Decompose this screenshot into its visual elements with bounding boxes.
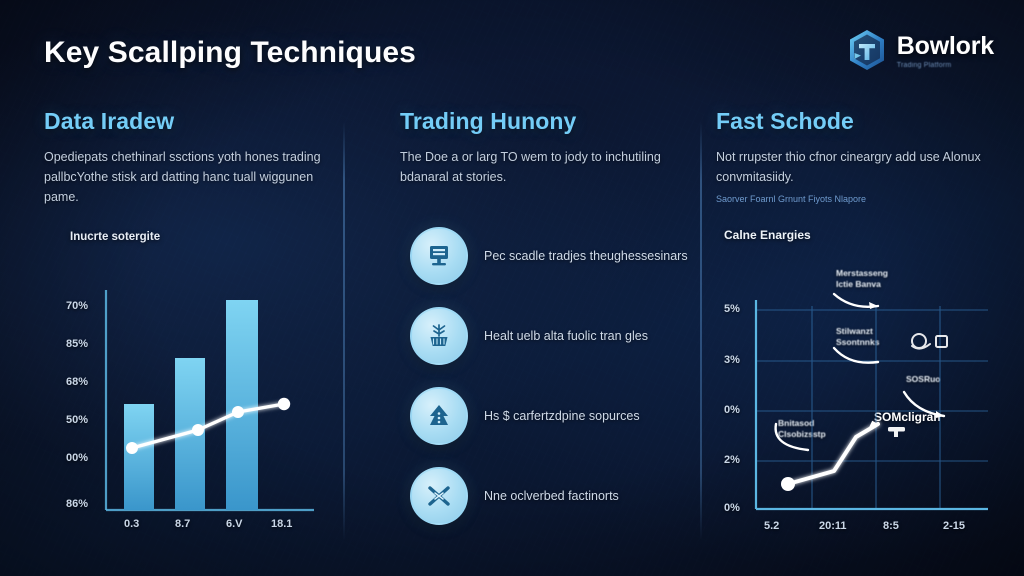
list-item[interactable]: Healt uelb alta fuolic tran gles: [410, 306, 690, 366]
list-item-label: Healt uelb alta fuolic tran gles: [484, 327, 648, 346]
column-divider-1: [343, 122, 345, 540]
list-item-label: Nne oclverbed factinorts: [484, 487, 619, 506]
plant-basket-icon: [410, 307, 468, 365]
column-left-heading: Data Iradew: [44, 108, 330, 135]
list-item[interactable]: Nne oclverbed factinorts: [410, 466, 690, 526]
slide-root: Key Scallping Techniques: [0, 0, 1024, 576]
column-middle-heading: Trading Hunony: [400, 108, 690, 135]
tree-arrow-icon: [410, 387, 468, 445]
crossed-arrows-icon: [410, 467, 468, 525]
column-right-body: Not rrupster thio cfnor cineargry add us…: [716, 148, 1004, 188]
brand-logo: Bowlork Trading Platform: [846, 28, 994, 72]
brand-name: Bowlork: [897, 34, 994, 59]
column-right-heading: Fast Schode: [716, 108, 1004, 135]
list-item[interactable]: Hs $ carfertzdpine sopurces: [410, 386, 690, 446]
column-middle-body: The Doe a or larg TO wem to jody to inch…: [400, 148, 690, 188]
column-right: Fast Schode Not rrupster thio cfnor cine…: [716, 108, 1004, 560]
header: Key Scallping Techniques: [0, 0, 1024, 100]
column-left-body: Opediepats chethinarl ssctions yoth hone…: [44, 148, 330, 207]
list-item[interactable]: Pec scadle tradjes theughessesinars: [410, 226, 690, 286]
column-middle: Trading Hunony The Doe a or larg TO wem …: [400, 108, 690, 560]
hexagon-logo-icon: [846, 28, 888, 72]
brand-text: Bowlork Trading Platform: [897, 32, 994, 69]
feature-list: Pec scadle tradjes theughessesinars Heal…: [410, 226, 690, 546]
column-right-subnote: Saorver Foarnl Grnunt Fiyots Nlapore: [716, 193, 1004, 206]
line-chart-canvas: [716, 228, 1004, 548]
page-title: Key Scallping Techniques: [44, 36, 416, 70]
column-left: Data Iradew Opediepats chethinarl ssctio…: [44, 108, 330, 560]
list-item-label: Pec scadle tradjes theughessesinars: [484, 247, 688, 266]
line-chart: Calne Enargies 5% 3% 0% 2% 0% 5.2 20:11 …: [716, 228, 1004, 548]
list-item-label: Hs $ carfertzdpine sopurces: [484, 407, 640, 426]
bar-chart-canvas: [44, 228, 330, 548]
bar-chart: Inucrte sotergite 70% 85% 68% 50% 00% 86…: [44, 228, 330, 548]
column-divider-2: [700, 122, 702, 540]
monitor-icon: [410, 227, 468, 285]
brand-tagline: Trading Platform: [897, 62, 994, 69]
